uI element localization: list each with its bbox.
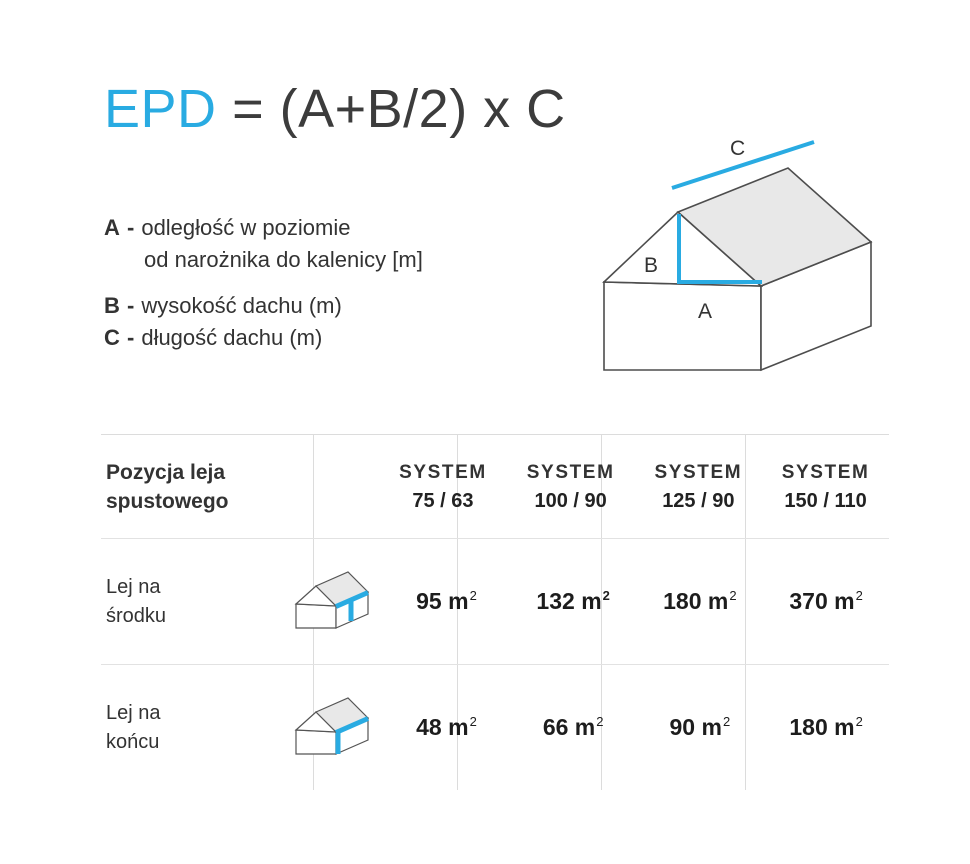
legend-text-b: wysokość dachu (m) — [141, 290, 342, 322]
row-1-value-1-exp: 2 — [470, 588, 477, 603]
header-cell-system-4: SYSTEM 150 / 110 — [762, 435, 889, 538]
row-2-label-cell: Lej na końcu — [101, 665, 288, 790]
row-1-label-line2: środku — [106, 602, 166, 631]
header-system-size-2: 100 / 90 — [527, 487, 615, 515]
header-cell-system-3: SYSTEM 125 / 90 — [635, 435, 763, 538]
legend-dash-c: - — [127, 322, 134, 354]
row-2-value-3: 90 m2 — [637, 665, 764, 790]
row-1-label-line1: Lej na — [106, 573, 166, 602]
row-1-value-4-unit: m — [834, 588, 854, 614]
legend-key-b: B — [104, 290, 125, 322]
header-system-word-4: SYSTEM — [782, 459, 870, 487]
row-2-value-2-number: 66 — [543, 714, 569, 740]
house-front-wall — [604, 282, 761, 370]
row-2-label-line2: końcu — [106, 728, 161, 757]
legend-item-b: B - wysokość dachu (m) — [104, 290, 534, 322]
header-cell-system-2: SYSTEM 100 / 90 — [507, 435, 635, 538]
header-cell-row-label: Pozycja leja spustowego — [101, 435, 290, 538]
row-1-value-4-number: 370 — [789, 588, 827, 614]
diagram-label-b: B — [644, 254, 658, 277]
row-1-icon-cell — [288, 539, 383, 664]
house-downpipe-middle-icon — [288, 562, 383, 642]
house-3d-icon: B A C — [586, 130, 926, 385]
row-1-value-1-unit: m — [448, 588, 468, 614]
row-2-value-1-unit: m — [448, 714, 468, 740]
row-2-label-line1: Lej na — [106, 699, 161, 728]
legend-text-a: odległość w poziomie — [141, 212, 350, 244]
table-header-row: Pozycja leja spustowego SYSTEM 75 / 63 S… — [101, 435, 889, 538]
header-row-label-line1: Pozycja leja — [106, 458, 229, 487]
legend-text-a-continuation: od narożnika do kalenicy [m] — [104, 244, 534, 276]
row-2-value-3-number: 90 — [670, 714, 696, 740]
row-1-value-3: 180 m2 — [637, 539, 764, 664]
legend-dash-a: - — [127, 212, 134, 244]
row-1-value-4-exp: 2 — [856, 588, 863, 603]
legend-key-c: C — [104, 322, 125, 354]
roof-measurement-diagram: B A C — [586, 130, 926, 385]
legend-text-c: długość dachu (m) — [141, 322, 322, 354]
legend: A - odległość w poziomie od narożnika do… — [104, 212, 534, 354]
page-title: EPD = (A+B/2) x C — [104, 78, 566, 140]
table-row: Lej na środku 95 m2 — [101, 539, 889, 664]
row-2-value-3-exp: 2 — [723, 714, 730, 729]
row-2-value-2-exp: 2 — [596, 714, 603, 729]
header-system-word-1: SYSTEM — [399, 459, 487, 487]
header-system-size-4: 150 / 110 — [782, 487, 870, 515]
row-2-value-1-number: 48 — [416, 714, 442, 740]
row-2-value-2: 66 m2 — [510, 665, 637, 790]
row-1-value-1-number: 95 — [416, 588, 442, 614]
row-2-icon-cell — [288, 665, 383, 790]
header-system-size-3: 125 / 90 — [654, 487, 742, 515]
row-1-value-3-exp: 2 — [729, 588, 736, 603]
diagram-label-a: A — [698, 300, 712, 323]
row-1-label-cell: Lej na środku — [101, 539, 288, 664]
row-2-value-4: 180 m2 — [763, 665, 889, 790]
row-2-value-4-number: 180 — [789, 714, 827, 740]
row-1-value-2-unit: m — [581, 588, 601, 614]
header-cell-system-1: SYSTEM 75 / 63 — [379, 435, 507, 538]
legend-item-a: A - odległość w poziomie — [104, 212, 534, 244]
legend-key-a: A — [104, 212, 125, 244]
row-2-value-3-unit: m — [701, 714, 721, 740]
header-row-label-line2: spustowego — [106, 487, 229, 516]
legend-dash-b: - — [127, 290, 134, 322]
row-1-value-3-unit: m — [708, 588, 728, 614]
row-2-value-1: 48 m2 — [383, 665, 510, 790]
row-1-value-2-exp: 2 — [603, 588, 610, 603]
title-accent: EPD — [104, 79, 217, 139]
diagram-label-c: C — [730, 137, 745, 160]
row-2-value-2-unit: m — [575, 714, 595, 740]
row-2-value-4-exp: 2 — [856, 714, 863, 729]
header-cell-icon-spacer — [290, 435, 380, 538]
row-2-value-1-exp: 2 — [470, 714, 477, 729]
row-1-value-1: 95 m2 — [383, 539, 510, 664]
header-system-size-1: 75 / 63 — [399, 487, 487, 515]
title-formula: = (A+B/2) x C — [232, 79, 566, 139]
capacity-table: Pozycja leja spustowego SYSTEM 75 / 63 S… — [101, 434, 889, 790]
header-system-word-2: SYSTEM — [527, 459, 615, 487]
legend-item-c: C - długość dachu (m) — [104, 322, 534, 354]
row-2-value-4-unit: m — [834, 714, 854, 740]
row-1-value-2: 132 m2 — [510, 539, 637, 664]
row-1-value-4: 370 m2 — [763, 539, 889, 664]
house-downpipe-end-icon — [288, 688, 383, 768]
row-1-value-3-number: 180 — [663, 588, 701, 614]
row-1-value-2-number: 132 — [536, 588, 574, 614]
table-row: Lej na końcu 48 m2 66 m2 — [101, 665, 889, 790]
header-system-word-3: SYSTEM — [654, 459, 742, 487]
